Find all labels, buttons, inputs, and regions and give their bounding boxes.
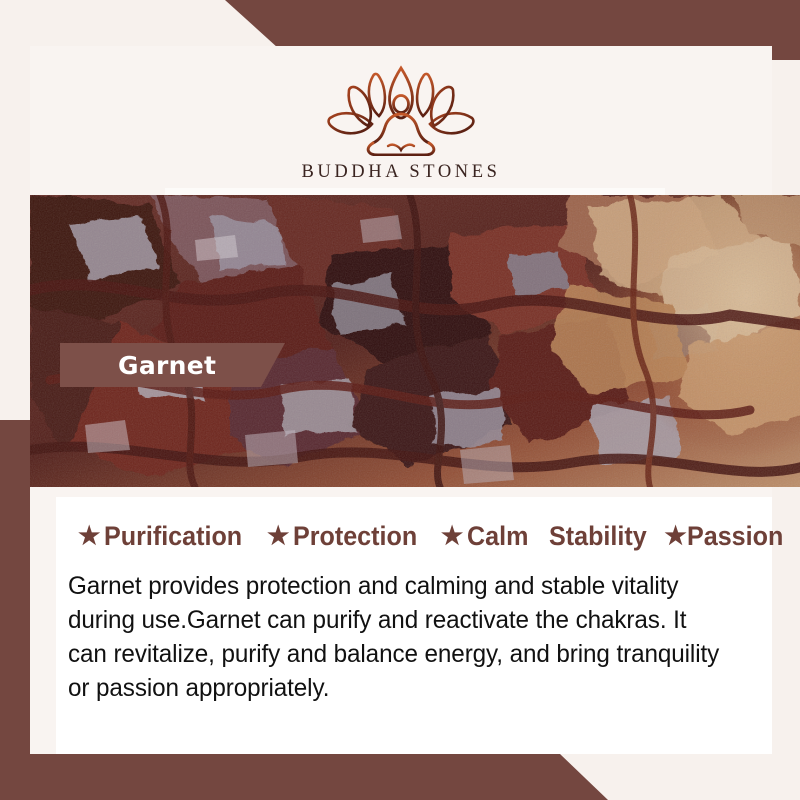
benefits-list: ★ Purification ★ Protection ★ Calm Stabi… — [78, 521, 762, 552]
benefit-item-stability: Stability — [549, 521, 654, 552]
star-icon: ★ — [441, 524, 463, 549]
content-panel: ★ Purification ★ Protection ★ Calm Stabi… — [56, 497, 772, 754]
brand-logo: BUDDHA STONES — [30, 64, 772, 183]
stone-name-banner: Garnet — [60, 343, 285, 387]
benefit-label: Stability — [549, 521, 647, 552]
benefit-item-calm: ★ Calm — [441, 521, 533, 552]
benefit-item-passion: ★ Passion — [664, 521, 790, 552]
left-edge-accent — [0, 420, 30, 800]
star-icon: ★ — [78, 524, 100, 549]
right-edge-accent — [772, 0, 800, 60]
top-right-accent-bar — [0, 0, 800, 48]
benefit-label: Calm — [467, 521, 528, 552]
garnet-crystal-cluster-photo — [30, 195, 800, 487]
benefit-item-purification: ★ Purification — [78, 521, 253, 552]
poster-root: BUDDHA STONES Stone Features & Benefits — [0, 0, 800, 800]
brand-name: BUDDHA STONES — [301, 162, 500, 183]
benefit-label: Protection — [293, 521, 417, 552]
stone-description: Garnet provides protection and calming a… — [68, 569, 730, 705]
benefit-label: Purification — [104, 521, 242, 552]
star-icon: ★ — [267, 524, 289, 549]
inner-card: BUDDHA STONES Stone Features & Benefits — [30, 46, 772, 754]
benefit-label: Passion — [687, 521, 783, 552]
star-icon: ★ — [664, 524, 686, 549]
stone-name-label: Garnet — [118, 351, 216, 380]
bottom-left-accent-bar — [0, 754, 800, 800]
lotus-meditation-figure-icon — [316, 64, 486, 156]
benefit-item-protection: ★ Protection — [267, 521, 427, 552]
